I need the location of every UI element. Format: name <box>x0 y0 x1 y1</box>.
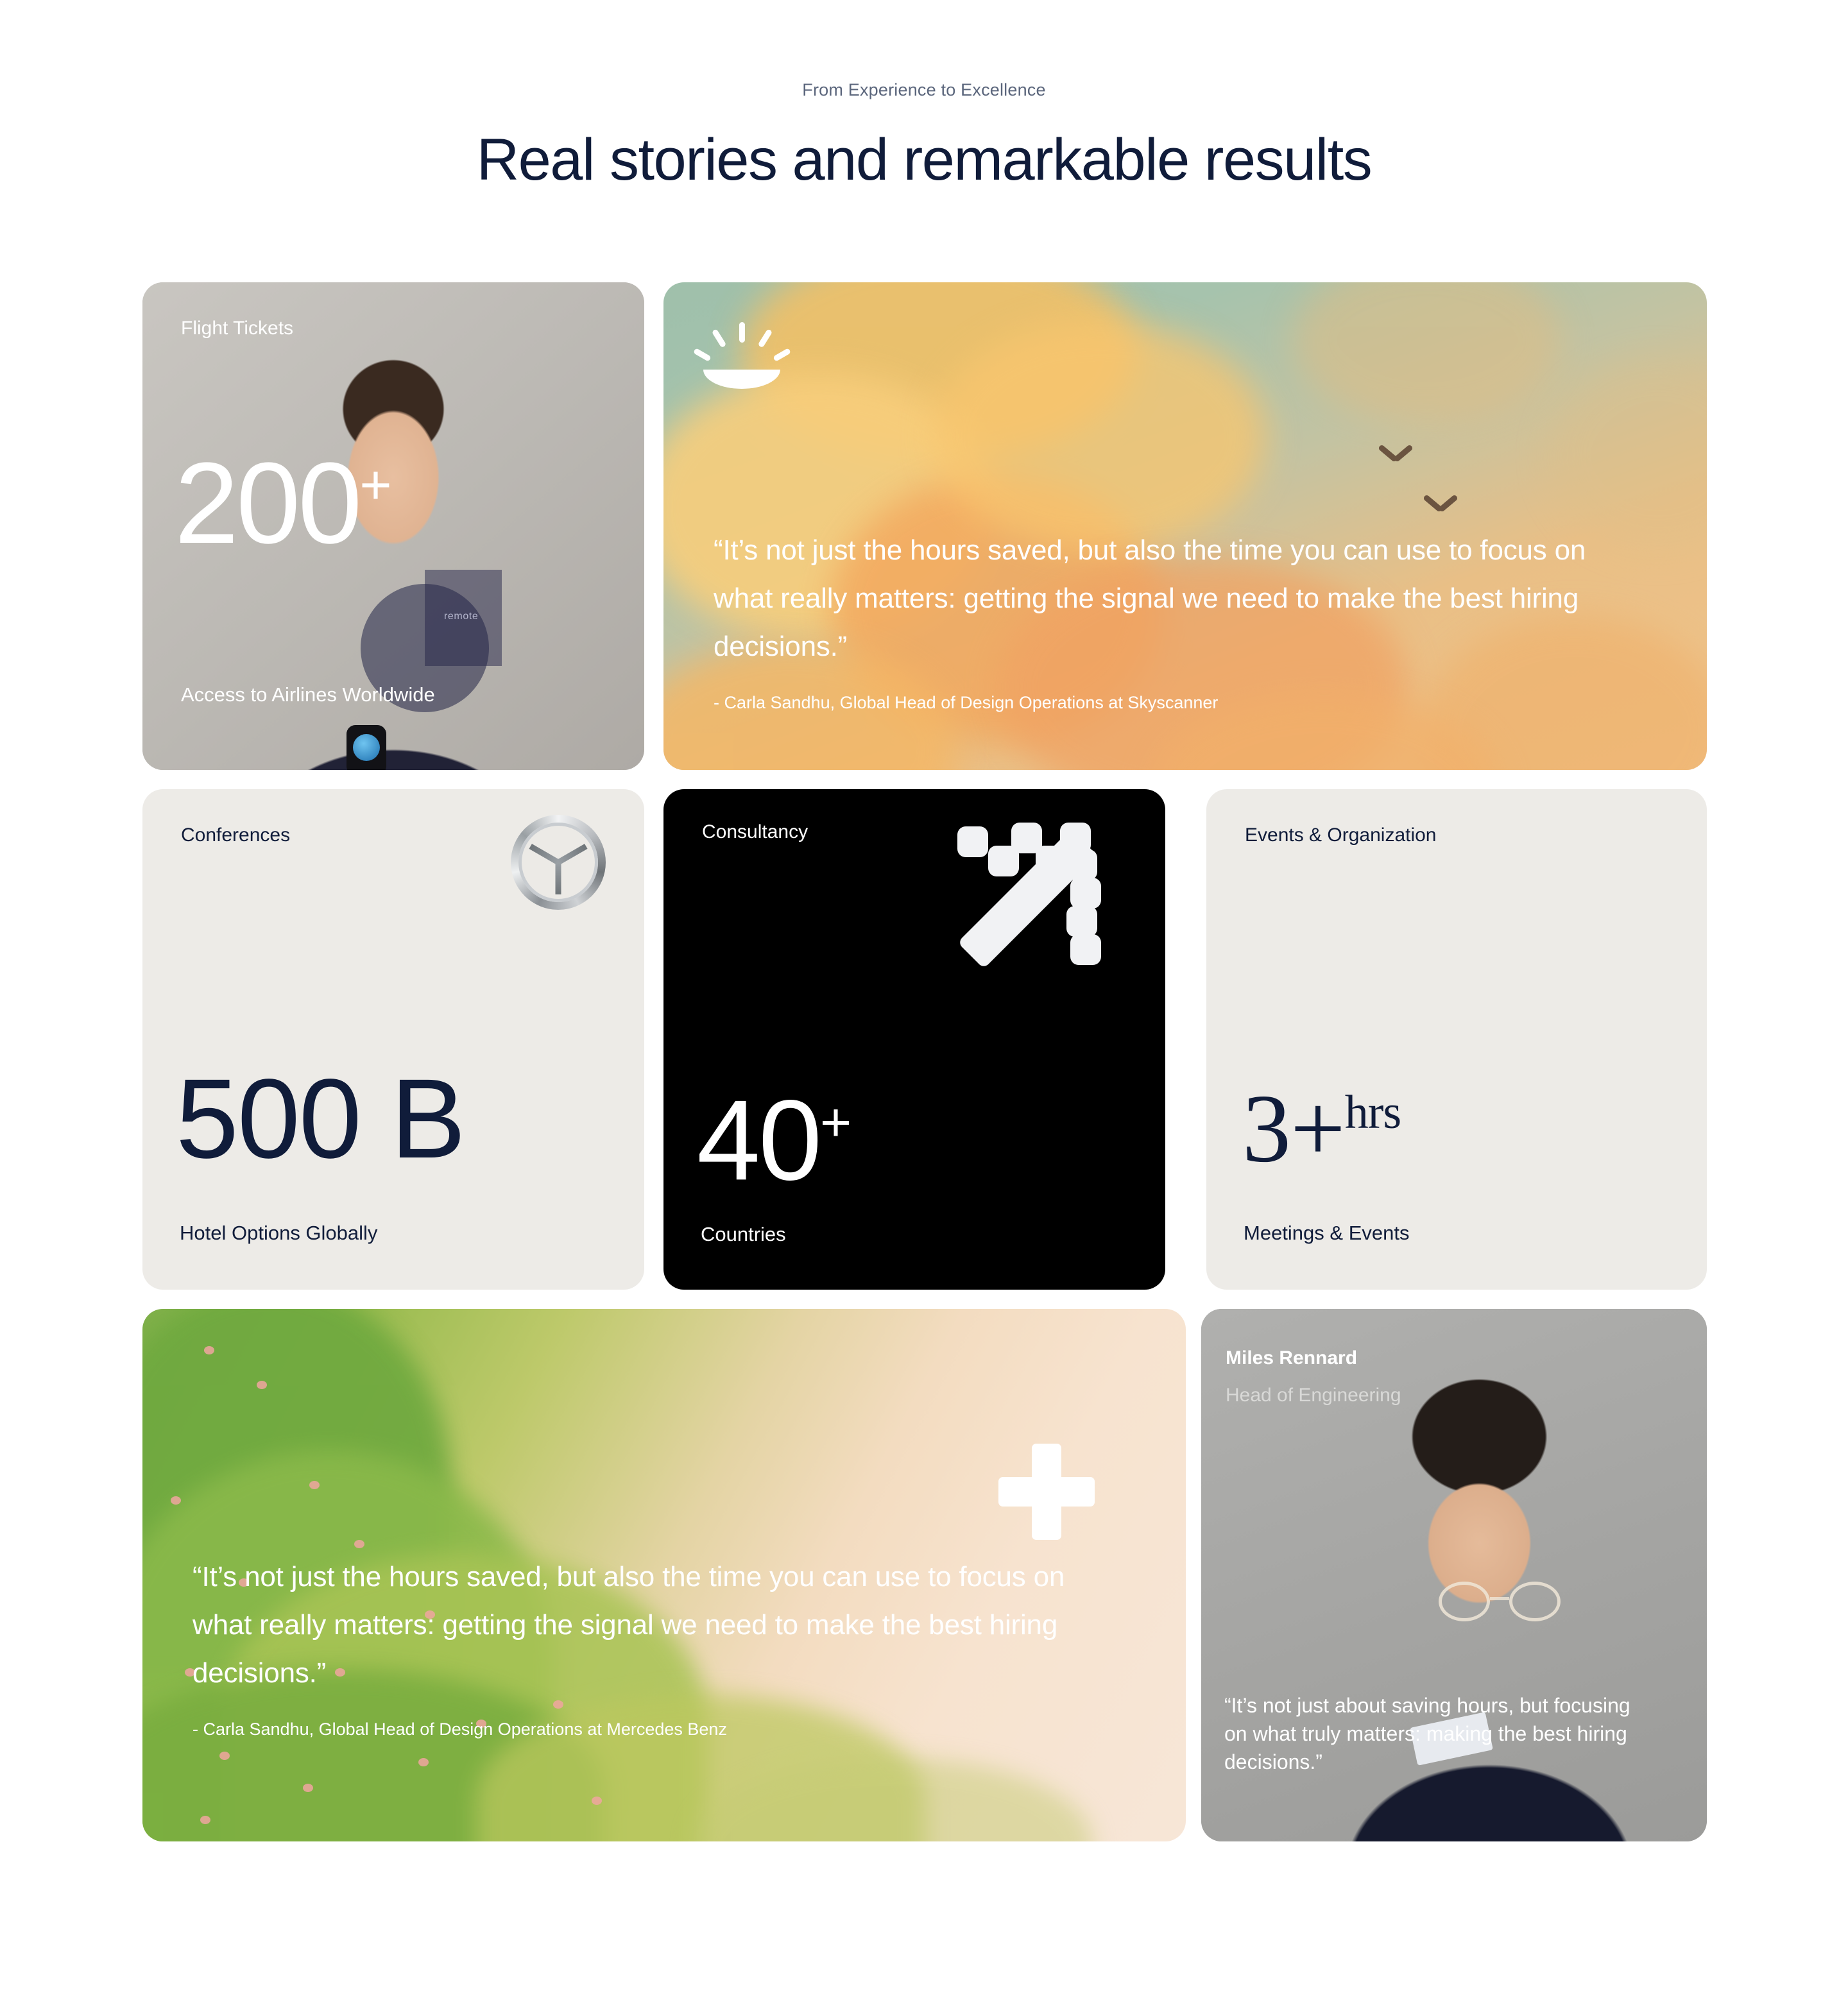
card-kicker: Flight Tickets <box>181 318 293 339</box>
card-kicker: Events & Organization <box>1245 824 1437 846</box>
quote-text: “It’s not just the hours saved, but also… <box>193 1553 1065 1697</box>
person-role: Head of Engineering <box>1226 1385 1401 1406</box>
stat-suffix: + <box>820 1092 850 1152</box>
stat-card-flight-tickets[interactable]: remote Flight Tickets 200+ Access to Air… <box>142 282 644 770</box>
eyeglasses <box>1439 1582 1561 1621</box>
diagonal-arrow-icon <box>954 823 1101 970</box>
card-caption: Hotel Options Globally <box>180 1222 377 1245</box>
mercedes-benz-logo <box>511 815 606 910</box>
plus-icon <box>998 1444 1095 1540</box>
quote-attribution: - Carla Sandhu, Global Head of Design Op… <box>193 1720 727 1739</box>
quote-attribution: - Carla Sandhu, Global Head of Design Op… <box>714 693 1218 713</box>
stat-card-consultancy[interactable]: Consultancy 40+ Countries <box>663 789 1165 1290</box>
sunrise-icon <box>703 322 780 389</box>
stat-number: 200 <box>175 439 359 568</box>
page-title: Real stories and remarkable results <box>0 125 1848 194</box>
card-caption: Meetings & Events <box>1244 1222 1409 1245</box>
stat-value: 200+ <box>175 427 392 561</box>
stat-card-events-organization[interactable]: Events & Organization 3+hrs Meetings & E… <box>1206 789 1707 1290</box>
wristwatch <box>346 725 386 770</box>
card-caption: Countries <box>701 1223 786 1246</box>
stat-value: 500 B <box>176 1063 465 1175</box>
quote-text: “It’s not just the hours saved, but also… <box>714 526 1625 670</box>
quote-card-skyscanner[interactable]: “It’s not just the hours saved, but also… <box>663 282 1707 770</box>
card-kicker: Consultancy <box>702 821 808 843</box>
testimonial-card-miles-rennard[interactable]: Miles Rennard Head of Engineering “It’s … <box>1201 1309 1707 1841</box>
stat-suffix: hrs <box>1345 1086 1401 1139</box>
stat-suffix: + <box>359 454 391 516</box>
section-eyebrow: From Experience to Excellence <box>0 80 1848 100</box>
quote-card-mercedes-benz[interactable]: “It’s not just the hours saved, but also… <box>142 1309 1186 1841</box>
stats-testimonials-page: From Experience to Excellence Real stori… <box>0 0 1848 1998</box>
card-caption: Access to Airlines Worldwide <box>181 683 435 706</box>
stat-number: 40 <box>697 1076 820 1204</box>
card-kicker: Conferences <box>181 824 290 846</box>
quote-text: “It’s not just about saving hours, but f… <box>1224 1691 1648 1776</box>
stat-number: 3+ <box>1242 1075 1345 1183</box>
stat-value: 40+ <box>697 1065 850 1197</box>
person-name: Miles Rennard <box>1226 1347 1357 1369</box>
stat-card-conferences[interactable]: Conferences 500 B Hotel Options Globally <box>142 789 644 1290</box>
stat-value: 3+hrs <box>1242 1064 1401 1177</box>
shirt-brand-text: remote <box>444 611 478 622</box>
